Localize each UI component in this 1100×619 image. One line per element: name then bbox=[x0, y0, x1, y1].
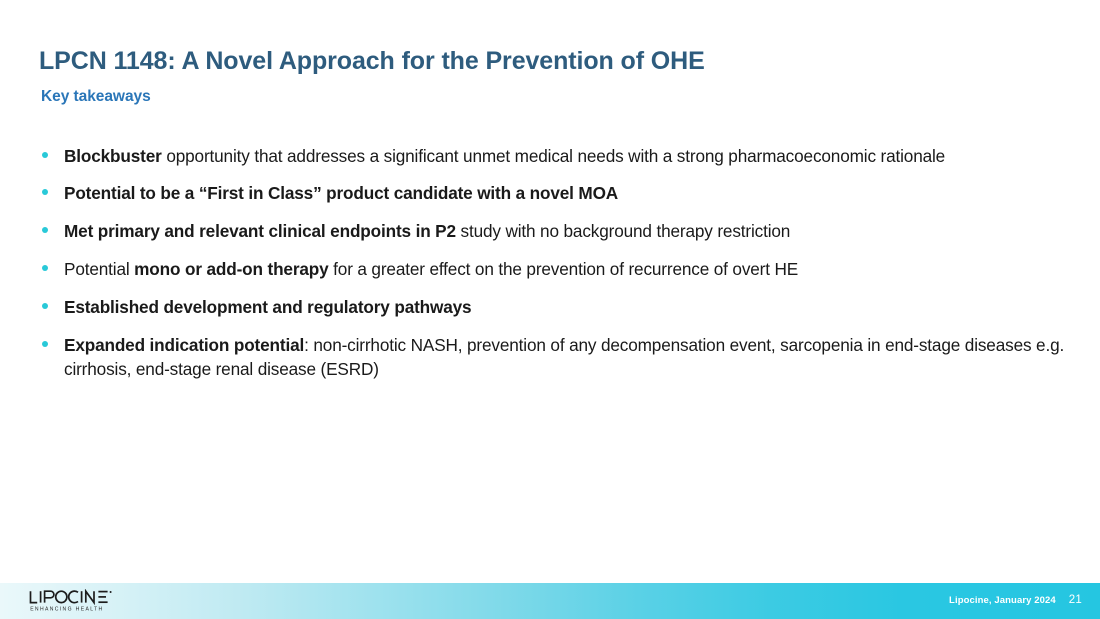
list-item-text: Blockbuster opportunity that addresses a… bbox=[64, 144, 1070, 168]
list-item-rest: for a greater effect on the prevention o… bbox=[329, 259, 799, 279]
page-title: LPCN 1148: A Novel Approach for the Prev… bbox=[39, 47, 705, 76]
bullet-dot-icon bbox=[40, 257, 64, 271]
footer-bar: ENHANCING HEALTH Lipocine, January 2024 … bbox=[0, 583, 1100, 619]
list-item: Potential to be a “First in Class” produ… bbox=[40, 181, 1070, 205]
list-item-text: Potential to be a “First in Class” produ… bbox=[64, 181, 1070, 205]
bullet-dot-icon bbox=[40, 333, 64, 347]
list-item: Met primary and relevant clinical endpoi… bbox=[40, 219, 1070, 243]
list-item-lead: Potential bbox=[64, 259, 134, 279]
bullet-dot-icon bbox=[40, 181, 64, 195]
bullet-dot-icon bbox=[40, 219, 64, 233]
list-item-rest: study with no background therapy restric… bbox=[456, 221, 790, 241]
list-item-bold-lead: Potential to be a “First in Class” produ… bbox=[64, 183, 618, 203]
list-item-bold-mid: mono or add-on therapy bbox=[134, 259, 328, 279]
page-subtitle: Key takeaways bbox=[41, 88, 151, 106]
slide: LPCN 1148: A Novel Approach for the Prev… bbox=[0, 0, 1100, 619]
svg-text:ENHANCING HEALTH: ENHANCING HEALTH bbox=[30, 607, 103, 613]
list-item-text: Potential mono or add-on therapy for a g… bbox=[64, 257, 1070, 281]
footer-meta: Lipocine, January 2024 21 bbox=[949, 594, 1082, 606]
list-item-text: Established development and regulatory p… bbox=[64, 295, 1070, 319]
key-takeaways-list: Blockbuster opportunity that addresses a… bbox=[40, 144, 1070, 394]
list-item: Potential mono or add-on therapy for a g… bbox=[40, 257, 1070, 281]
list-item-bold-lead: Blockbuster bbox=[64, 146, 162, 166]
page-number: 21 bbox=[1069, 594, 1082, 606]
list-item-text: Expanded indication potential: non-cirrh… bbox=[64, 333, 1070, 381]
lipocine-logo: ENHANCING HEALTH bbox=[28, 589, 120, 614]
bullet-dot-icon bbox=[40, 295, 64, 309]
list-item-text: Met primary and relevant clinical endpoi… bbox=[64, 219, 1070, 243]
list-item-rest: opportunity that addresses a significant… bbox=[162, 146, 945, 166]
list-item: Expanded indication potential: non-cirrh… bbox=[40, 333, 1070, 381]
list-item: Blockbuster opportunity that addresses a… bbox=[40, 144, 1070, 168]
list-item-bold-lead: Established development and regulatory p… bbox=[64, 297, 471, 317]
list-item: Established development and regulatory p… bbox=[40, 295, 1070, 319]
list-item-bold-lead: Expanded indication potential bbox=[64, 335, 304, 355]
list-item-bold-lead: Met primary and relevant clinical endpoi… bbox=[64, 221, 456, 241]
bullet-dot-icon bbox=[40, 144, 64, 158]
footer-credit: Lipocine, January 2024 bbox=[949, 595, 1056, 606]
